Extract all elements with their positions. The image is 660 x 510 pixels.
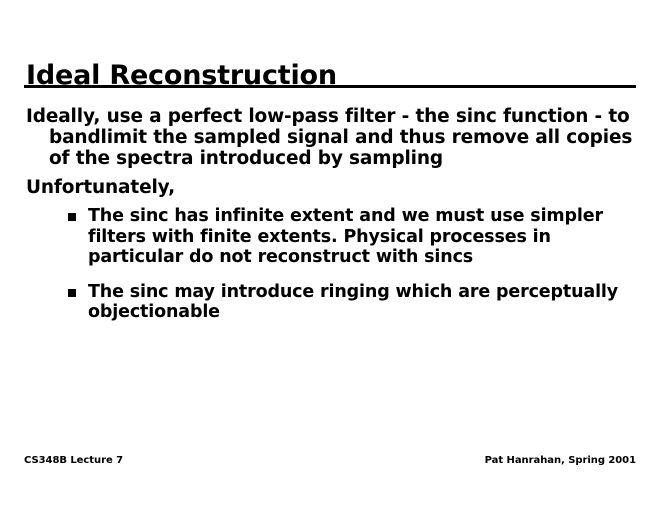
title-divider	[24, 85, 636, 88]
list-item-label: The sinc has infinite extent and we must…	[88, 206, 603, 267]
footer-author-label: Pat Hanrahan, Spring 2001	[485, 455, 636, 466]
square-bullet-icon	[68, 213, 76, 221]
slide-body: Ideally, use a perfect low-pass filter -…	[26, 106, 640, 337]
presentation-slide: Ideal Reconstruction Ideally, use a perf…	[0, 0, 660, 510]
list-item-label: The sinc may introduce ringing which are…	[88, 282, 618, 323]
square-bullet-icon	[68, 289, 76, 297]
body-paragraph-secondary: Unfortunately,	[26, 177, 640, 198]
list-item: The sinc may introduce ringing which are…	[26, 282, 640, 323]
slide-footer: CS348B Lecture 7 Pat Hanrahan, Spring 20…	[24, 455, 636, 466]
body-paragraph-primary: Ideally, use a perfect low-pass filter -…	[26, 106, 640, 169]
list-item: The sinc has infinite extent and we must…	[26, 206, 640, 268]
footer-course-label: CS348B Lecture 7	[24, 455, 123, 466]
bullet-list: The sinc has infinite extent and we must…	[26, 206, 640, 323]
